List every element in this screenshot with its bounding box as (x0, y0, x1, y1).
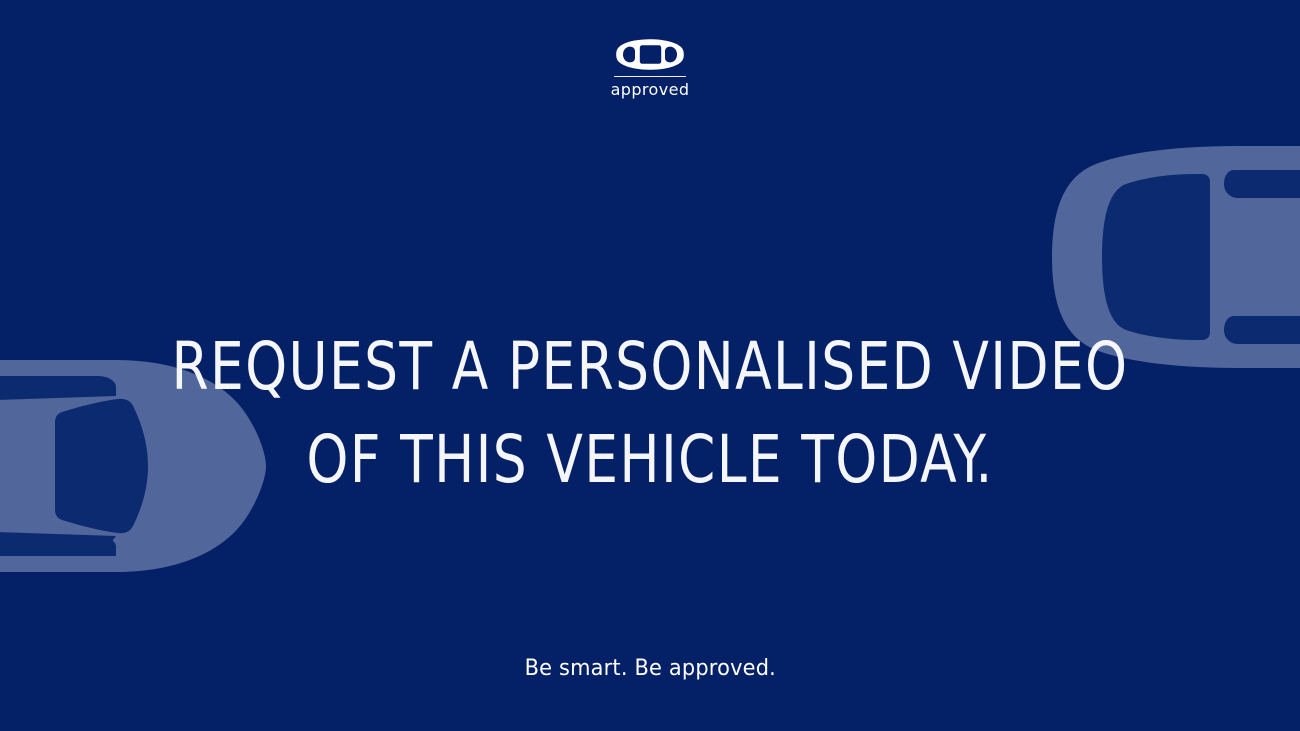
headline: REQUEST A PERSONALISED VIDEO OF THIS VEH… (0, 320, 1300, 506)
tagline: Be smart. Be approved. (0, 655, 1300, 683)
car-top-view-icon (616, 38, 684, 71)
slide-canvas: approved REQUEST A PERSONALISED VIDEO OF… (0, 0, 1300, 731)
headline-line-2: OF THIS VEHICLE TODAY. (65, 413, 1235, 506)
brand-wordmark: approved (611, 82, 690, 98)
brand-logo: approved (0, 38, 1300, 98)
brand-divider-rule (614, 76, 686, 77)
headline-line-1: REQUEST A PERSONALISED VIDEO (65, 320, 1235, 413)
tagline-text: Be smart. Be approved. (524, 655, 775, 683)
